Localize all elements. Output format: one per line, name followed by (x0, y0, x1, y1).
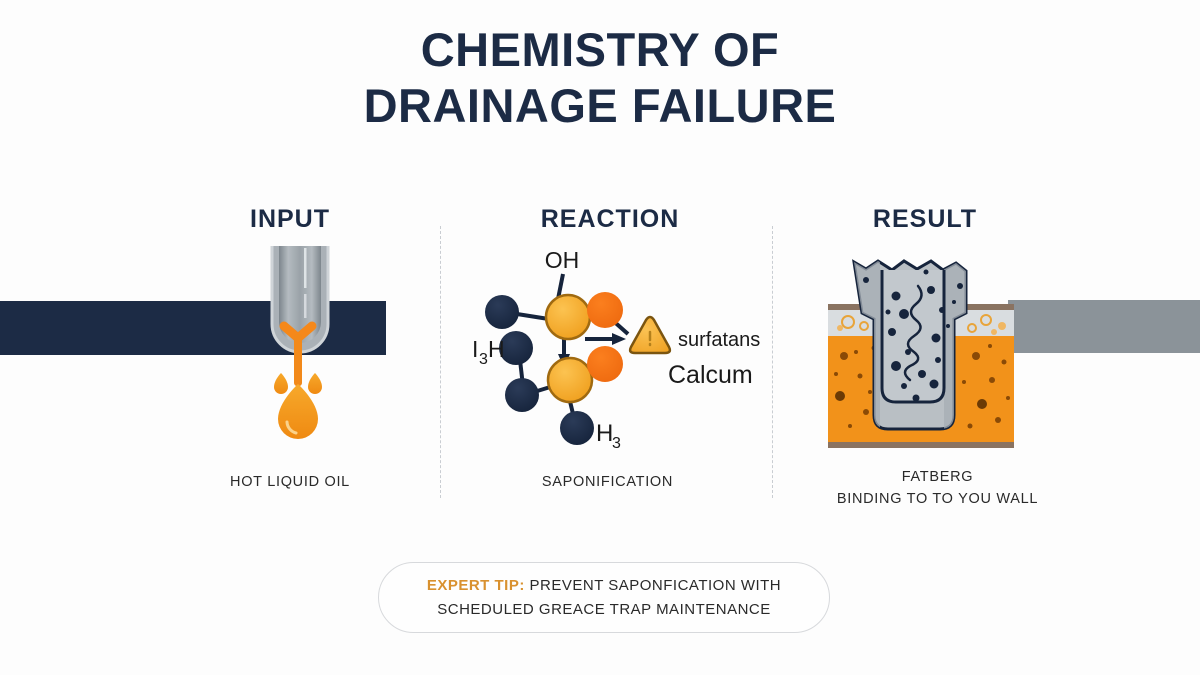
expert-tip-banner: EXPERT TIP: PREVENT SAPONFICATION WITH S… (378, 562, 830, 633)
molecule-label-oh: OH (545, 252, 580, 273)
oil-droplet-small-left (274, 373, 288, 394)
product-label-surfactants: surfatans (678, 329, 760, 351)
molecule-label-left-main: I (472, 336, 478, 362)
nozzle-highlight-upper (304, 248, 307, 288)
molecule-label-left-tail: H (488, 336, 505, 362)
outlet-pipe-bar (1008, 300, 1200, 353)
title-line-1: CHEMISTRY OF (421, 23, 780, 76)
caption-result: FATBERG BINDING TO TO YOU WALL (810, 466, 1065, 510)
arrow-right-icon (585, 333, 626, 345)
column-heading-input: INPUT (180, 205, 400, 234)
atom-soap-lower (548, 358, 592, 402)
atom-carbon-upper-left (485, 295, 519, 329)
molecule-reaction-diagram-icon: OH I 3 H H 3 surfatans Calcum (450, 252, 770, 457)
caption-reaction-line1: SAPONIFICATION (542, 474, 673, 490)
oil-droplet-small-right (308, 373, 322, 394)
expert-tip-line2: SCHEDULED GREACE TRAP MAINTENANCE (437, 601, 771, 618)
fatberg-pipe-cross-section-icon (826, 256, 1028, 450)
molecule-label-left: I 3 H (472, 336, 505, 368)
atom-carbon-lower-bottom (505, 378, 539, 412)
title-line-2: DRAINAGE FAILURE (0, 78, 1200, 134)
warning-triangle-icon (630, 317, 670, 353)
nozzle-highlight-lower (304, 294, 307, 318)
expert-tip-label: EXPERT TIP: (427, 577, 525, 594)
oil-stream (294, 334, 302, 386)
column-divider-left (440, 226, 441, 498)
pipe-wall-bottom (828, 442, 1014, 448)
caption-reaction: SAPONIFICATION (480, 471, 735, 493)
pipe-nozzle-dripping-oil-icon (230, 246, 400, 456)
infographic-canvas: CHEMISTRY OF DRAINAGE FAILURE INPUT REAC… (0, 0, 1200, 675)
molecule-label-left-sub: 3 (479, 351, 488, 368)
molecule-label-bottom-main: H (596, 420, 613, 447)
column-heading-result: RESULT (815, 205, 1035, 234)
expert-tip-line1: PREVENT SAPONFICATION WITH (525, 577, 781, 594)
atom-oxygen-upper (587, 292, 623, 328)
molecule-label-bottom: H 3 (596, 420, 621, 452)
input-illustration (230, 246, 400, 456)
column-heading-reaction: REACTION (490, 205, 730, 234)
atom-fat-upper (546, 295, 590, 339)
caption-input: HOT LIQUID OIL (175, 471, 405, 493)
caption-input-line1: HOT LIQUID OIL (230, 474, 350, 490)
result-illustration (826, 256, 1028, 450)
column-divider-right (772, 226, 773, 498)
reaction-illustration: OH I 3 H H 3 surfatans Calcum (450, 252, 770, 457)
caption-result-line1: FATBERG (902, 469, 974, 485)
molecule-label-bottom-sub: 3 (612, 435, 621, 452)
atom-carbon-h3 (560, 411, 594, 445)
caption-result-line2: BINDING TO TO YOU WALL (837, 491, 1038, 507)
atom-oxygen-lower (587, 346, 623, 382)
expert-tip-text: EXPERT TIP: PREVENT SAPONFICATION WITH S… (401, 574, 807, 622)
product-label-calcium: Calcum (668, 361, 753, 389)
page-title: CHEMISTRY OF DRAINAGE FAILURE (0, 22, 1200, 134)
